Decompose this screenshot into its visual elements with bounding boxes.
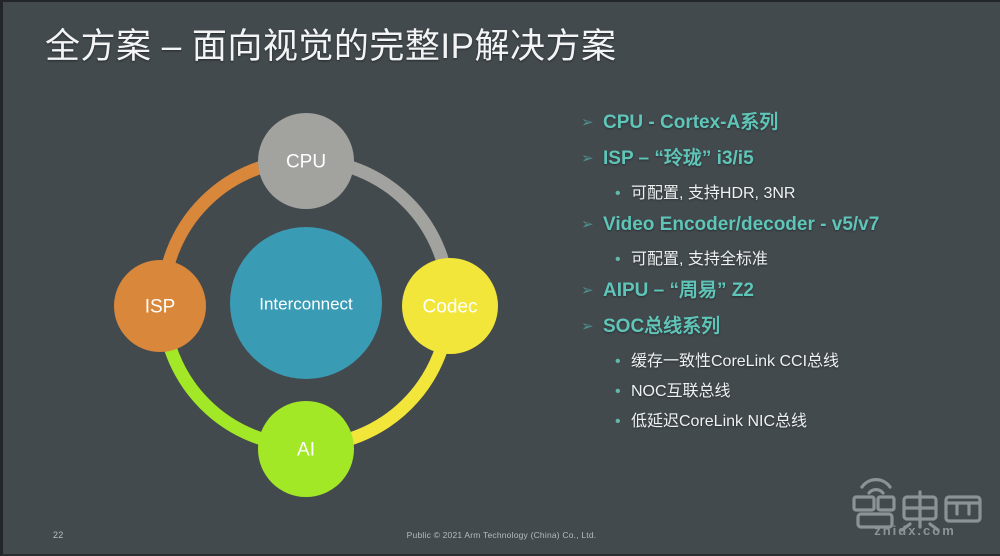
- list-item-label: 可配置, 支持全标准: [631, 248, 768, 272]
- list-item-label: CPU - Cortex-A系列: [603, 110, 778, 136]
- node-ai-label: AI: [297, 440, 315, 461]
- dot-bullet-icon: •: [615, 410, 631, 434]
- watermark-site-label: zhidx.com: [874, 523, 956, 538]
- arrow-bullet-icon: ➢: [581, 110, 603, 136]
- slide-canvas: 全方案 – 面向视觉的完整IP解决方案 Interconnect CPU ISP: [0, 0, 1000, 556]
- signal-arc-icon: [862, 480, 890, 487]
- list-item[interactable]: • 缓存一致性CoreLink CCI总线: [581, 350, 993, 374]
- list-item-label: AIPU – “周易” Z2: [603, 278, 754, 304]
- node-cpu-label: CPU: [286, 152, 326, 173]
- list-item-label: 可配置, 支持HDR, 3NR: [631, 182, 795, 206]
- page-title: 全方案 – 面向视觉的完整IP解决方案: [45, 26, 616, 68]
- list-item[interactable]: ➢ SOC总线系列: [581, 314, 993, 340]
- dot-bullet-icon: •: [615, 248, 631, 272]
- list-item[interactable]: • 可配置, 支持HDR, 3NR: [581, 182, 993, 206]
- dot-bullet-icon: •: [615, 380, 631, 404]
- list-item[interactable]: • 可配置, 支持全标准: [581, 248, 993, 272]
- zhidx-watermark-logo: zhidx.com: [840, 472, 990, 538]
- signal-arc-inner-icon: [869, 490, 883, 493]
- list-item[interactable]: • 低延迟CoreLink NIC总线: [581, 410, 993, 434]
- architecture-diagram: Interconnect CPU ISP Codec AI: [91, 98, 521, 508]
- list-item-label: 缓存一致性CoreLink CCI总线: [631, 350, 839, 374]
- arrow-bullet-icon: ➢: [581, 314, 603, 340]
- list-item-label: SOC总线系列: [603, 314, 720, 340]
- dot-bullet-icon: •: [615, 350, 631, 374]
- list-item-label: NOC互联总线: [631, 380, 731, 404]
- list-item-label: ISP – “玲珑” i3/i5: [603, 146, 754, 172]
- list-item-label: Video Encoder/decoder - v5/v7: [603, 212, 879, 238]
- node-codec-label: Codec: [423, 297, 478, 318]
- arrow-bullet-icon: ➢: [581, 146, 603, 172]
- arrow-bullet-icon: ➢: [581, 212, 603, 238]
- feature-bullet-list: ➢ CPU - Cortex-A系列 ➢ ISP – “玲珑” i3/i5 • …: [581, 110, 993, 440]
- arrow-bullet-icon: ➢: [581, 278, 603, 304]
- list-item[interactable]: ➢ ISP – “玲珑” i3/i5: [581, 146, 993, 172]
- node-interconnect-label: Interconnect: [259, 295, 353, 314]
- list-item-label: 低延迟CoreLink NIC总线: [631, 410, 807, 434]
- list-item[interactable]: ➢ Video Encoder/decoder - v5/v7: [581, 212, 993, 238]
- list-item[interactable]: ➢ AIPU – “周易” Z2: [581, 278, 993, 304]
- node-isp-label: ISP: [145, 297, 176, 318]
- list-item[interactable]: ➢ CPU - Cortex-A系列: [581, 110, 993, 136]
- list-item[interactable]: • NOC互联总线: [581, 380, 993, 404]
- dot-bullet-icon: •: [615, 182, 631, 206]
